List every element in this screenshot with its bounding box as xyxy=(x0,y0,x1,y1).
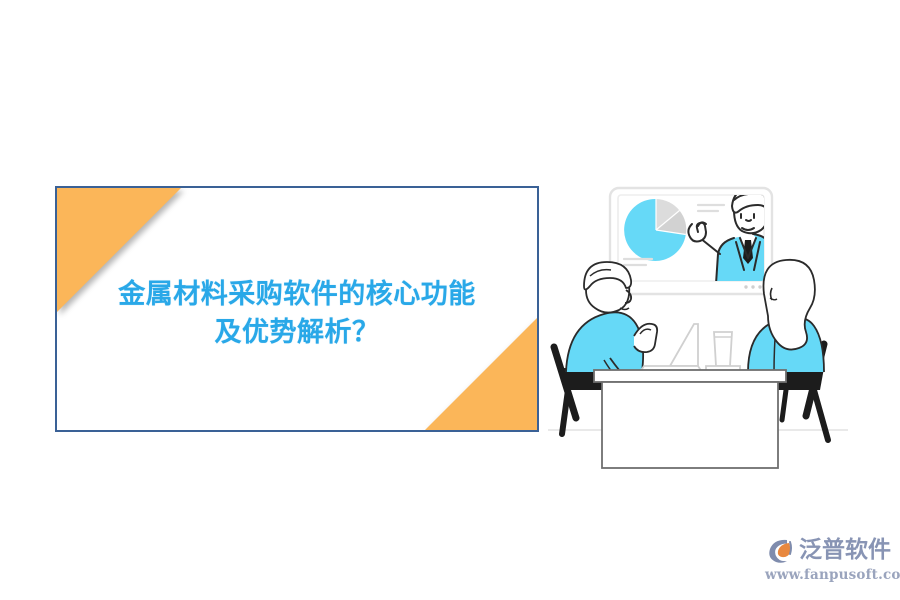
pie-chart xyxy=(624,199,686,261)
brand-name: 泛普软件 xyxy=(799,535,891,565)
drinking-glass xyxy=(706,332,740,372)
poster-canvas: 金属材料采购软件的核心功能 及优势解析？ xyxy=(0,0,900,600)
logo-row: 泛普软件 xyxy=(765,534,895,566)
brand-logo: 泛普软件 www.fanpusoft.com xyxy=(765,534,895,586)
title-card: 金属材料采购软件的核心功能 及优势解析？ xyxy=(55,186,539,432)
wall-mounted-display xyxy=(610,188,776,294)
brand-website: www.fanpusoft.com xyxy=(765,567,895,583)
meeting-table xyxy=(594,370,786,468)
page-title: 金属材料采购软件的核心功能 及优势解析？ xyxy=(57,276,537,352)
video-conference-illustration xyxy=(548,172,848,480)
fanpu-logo-mark-icon xyxy=(765,535,795,565)
screen-status-dots-icon xyxy=(744,285,761,288)
